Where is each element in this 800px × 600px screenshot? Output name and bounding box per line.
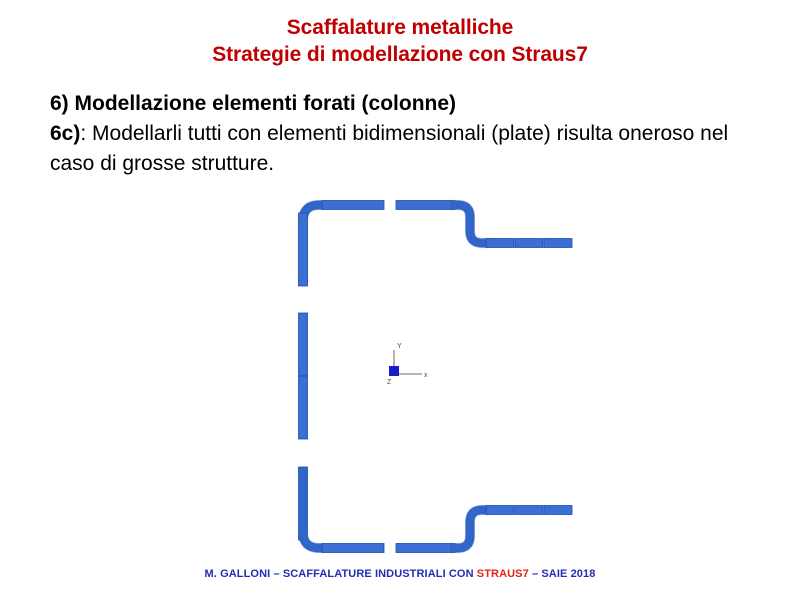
axis-label-z: Z — [387, 379, 392, 386]
axis-label-y: Y — [397, 343, 402, 350]
member-bottom-flange-right — [396, 544, 455, 553]
member-top-flange-right — [396, 201, 455, 210]
member-top-right-bend-outline — [450, 205, 490, 243]
footer-part-1: M. GALLONI – SCAFFALATURE INDUSTRIALI CO… — [205, 568, 477, 580]
footer-part-2: STRAUS7 — [477, 568, 529, 580]
axis-origin-marker — [389, 366, 399, 376]
member-bottom-lip-seg-1 — [486, 506, 514, 515]
member-bottom-right-bend-outline — [450, 510, 490, 548]
axis-triad: Y x Z — [387, 343, 428, 386]
member-top-lip-seg-3 — [544, 239, 572, 248]
slide-canvas: Scaffalature metalliche Strategie di mod… — [0, 0, 800, 600]
title-line-1: Scaffalature metalliche — [0, 14, 800, 41]
member-web-upper — [299, 213, 308, 286]
slide-title: Scaffalature metalliche Strategie di mod… — [0, 14, 800, 68]
member-bottom-lip-seg-3 — [544, 506, 572, 515]
member-bottom-lip-seg-2 — [515, 506, 543, 515]
member-top-flange-left — [322, 201, 384, 210]
title-line-2: Strategie di modellazione con Straus7 — [0, 41, 800, 68]
slide-footer: M. GALLONI – SCAFFALATURE INDUSTRIALI CO… — [0, 568, 800, 580]
member-web-middle-lower — [299, 376, 308, 439]
body-heading: 6) Modellazione elementi forati (colonne… — [50, 89, 750, 119]
axis-label-x: x — [424, 372, 428, 379]
member-bottom-flange-left — [322, 544, 384, 553]
member-bottom-left-corner-outline — [303, 468, 325, 548]
slide-body: 6) Modellazione elementi forati (colonne… — [50, 89, 750, 179]
footer-part-3: – SAIE 2018 — [529, 568, 596, 580]
body-item-text: : Modellarli tutti con elementi bidimens… — [50, 122, 728, 175]
body-item-label: 6c) — [50, 122, 80, 145]
section-figure: Y x Z — [270, 185, 600, 555]
member-top-lip-seg-2 — [515, 239, 543, 248]
section-drawing-svg: Y x Z — [270, 185, 600, 555]
member-top-lip-seg-1 — [486, 239, 514, 248]
body-item: 6c): Modellarli tutti con elementi bidim… — [50, 119, 750, 179]
member-web-middle-upper — [299, 313, 308, 376]
